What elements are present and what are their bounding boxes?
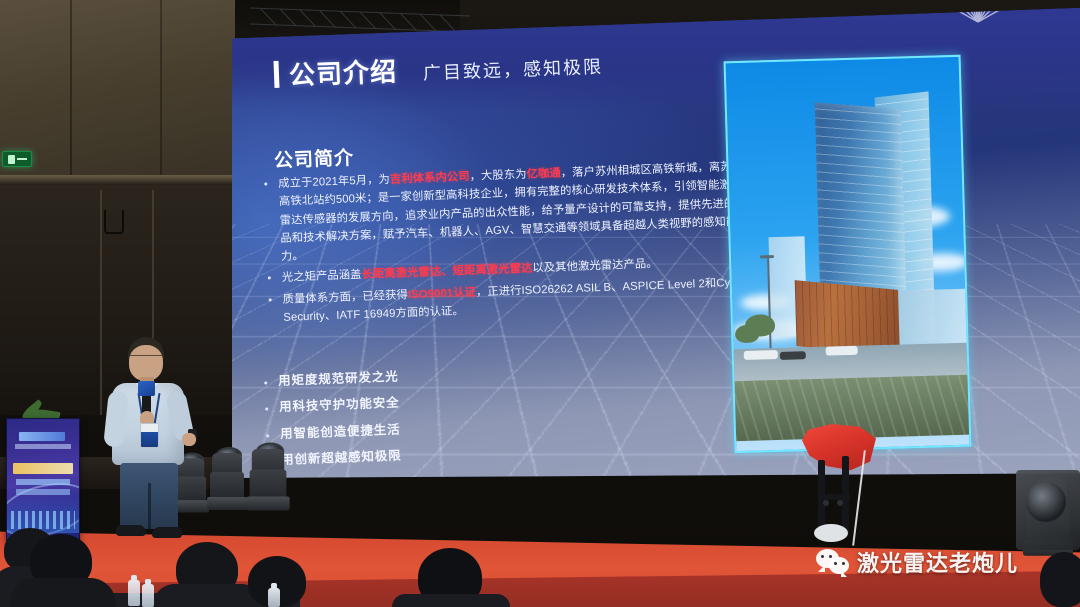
wall-wood-panel	[0, 0, 235, 178]
bullet-text: ，大股东为	[469, 169, 526, 183]
bullet-text: 质量体系方面，已经获得	[282, 289, 408, 306]
highlighted-text: 长距离激光雷达、短距离激光雷达	[361, 263, 532, 281]
car	[826, 346, 858, 356]
page-title: 公司介绍	[288, 51, 397, 92]
stand-fitting	[823, 500, 829, 506]
slide-slogan: 用科技守护功能安全	[253, 389, 613, 415]
ceiling-truss	[250, 2, 470, 36]
car	[780, 351, 806, 360]
bullet-text: 光之矩产品涵盖	[282, 269, 362, 284]
banner-headline	[13, 463, 73, 474]
water-bottle	[268, 588, 280, 607]
tree	[735, 325, 759, 344]
banner-skyline-graphic	[7, 495, 79, 533]
channel-watermark: 激光雷达老炮儿	[816, 546, 1018, 578]
audience-head	[1040, 552, 1080, 607]
highlighted-text: 亿咖通	[526, 167, 561, 180]
led-screen: 公司介绍 广目致远，感知极限 公司简介 成立于2021年5月，为吉利体系内公司，…	[232, 8, 1080, 478]
slide-subtitle: 广目致远，感知极限	[423, 53, 604, 86]
presenter	[96, 337, 206, 537]
watermark-text: 激光雷达老炮儿	[857, 546, 1018, 578]
stand-crossbar	[818, 494, 850, 500]
stand-base-plate	[814, 524, 848, 542]
exit-sign	[2, 151, 32, 167]
moving-head-light	[205, 448, 249, 510]
banner-text-line	[16, 479, 70, 485]
slide-slogan: 用创新超越感知极限	[255, 442, 615, 468]
bullet-text: 成立于2021年5月，为	[278, 174, 390, 190]
slide-bullet-list: 成立于2021年5月，为吉利体系内公司，大股东为亿咖通，落户苏州相城区高铁新城，…	[252, 157, 757, 331]
audience-shoulders	[392, 594, 510, 607]
wall-panel-seam	[160, 0, 162, 178]
presentation-photo-scene: 公司介绍 广目致远，感知极限 公司简介 成立于2021年5月，为吉利体系内公司，…	[0, 0, 1080, 607]
door-handle	[104, 210, 124, 234]
banner-logo	[19, 432, 65, 441]
wall-trim	[0, 175, 235, 185]
wechat-icon	[816, 549, 850, 575]
highlighted-text: ISO9001认证	[408, 286, 476, 301]
audience-shoulders	[10, 578, 116, 607]
water-bottle	[142, 584, 154, 607]
water-bottle	[128, 580, 140, 606]
slide-bullet: 成立于2021年5月，为吉利体系内公司，大股东为亿咖通，落户苏州相城区高铁新城，…	[252, 157, 755, 267]
head	[129, 345, 163, 381]
shoe	[152, 527, 182, 538]
car	[744, 350, 778, 360]
building-render-photo	[724, 55, 972, 453]
stand-fitting	[837, 500, 843, 506]
highlighted-text: 吉利体系内公司	[390, 171, 470, 186]
pa-speaker	[1016, 470, 1080, 550]
bullet-text: 以及其他激光雷达产品。	[532, 258, 658, 275]
title-accent-bar	[273, 61, 279, 88]
slide-slogan-list: 用矩度规范研发之光用科技守护功能安全用智能创造便捷生活用创新超越感知极限	[252, 362, 616, 478]
rollup-banner	[6, 418, 80, 542]
banner-company-line	[15, 444, 71, 449]
moving-head-light	[244, 444, 292, 511]
conference-badge	[140, 423, 159, 448]
wall-panel-seam	[70, 0, 72, 178]
red-cloth-cover	[802, 424, 876, 472]
shoe	[116, 525, 146, 536]
right-hand	[182, 433, 196, 446]
microphone-flag	[138, 381, 155, 396]
glasses	[129, 355, 163, 363]
slide-slogan: 用智能创造便捷生活	[254, 415, 614, 441]
red-draped-unveiling-stand	[796, 424, 886, 544]
leg-separation	[148, 483, 151, 529]
section-heading: 公司简介	[273, 143, 354, 173]
